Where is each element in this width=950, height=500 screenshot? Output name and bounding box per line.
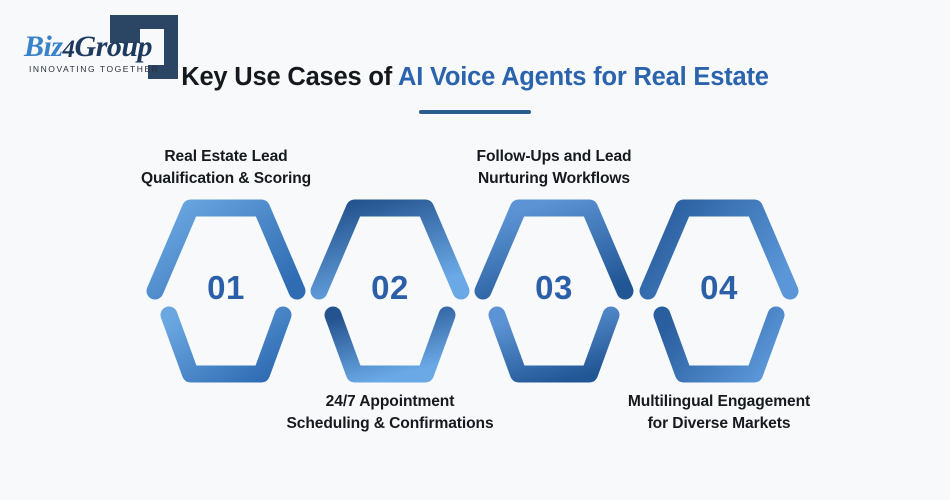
caption-step-3: Follow-Ups and Lead Nurturing Workflows: [429, 146, 679, 190]
caption-step-4: Multilingual Engagement for Diverse Mark…: [594, 391, 844, 435]
hexagon-stroke-upper: [319, 208, 461, 291]
page-title: Key Use Cases of AI Voice Agents for Rea…: [0, 63, 950, 92]
hexagon-stroke-lower: [497, 315, 611, 374]
caption-step-1: Real Estate Lead Qualification & Scoring: [101, 146, 351, 190]
hexagon-outline-1: [151, 203, 301, 379]
caption-step-2: 24/7 Appointment Scheduling & Confirmati…: [265, 391, 515, 435]
page-title-plain: Key Use Cases of: [181, 63, 398, 91]
hexagon-stroke-lower: [169, 315, 283, 374]
logo-text-four: 4: [63, 36, 75, 63]
hexagon-stroke-lower: [662, 315, 776, 374]
logo-text-group: Group: [75, 30, 153, 63]
hexagon-stroke-upper: [648, 208, 790, 291]
logo-text-biz: Biz: [24, 30, 63, 63]
hexagon-step-1[interactable]: 01: [151, 203, 301, 379]
hexagon-stroke-upper: [483, 208, 625, 291]
title-underline-rule: [419, 110, 531, 114]
hexagon-step-2[interactable]: 02: [315, 203, 465, 379]
hexagon-step-4[interactable]: 04: [644, 203, 794, 379]
hexagon-outline-3: [479, 203, 629, 379]
hexagon-outline-2: [315, 203, 465, 379]
hexagon-step-3[interactable]: 03: [479, 203, 629, 379]
hexagon-outline-4: [644, 203, 794, 379]
logo-wordmark: Biz4Group: [24, 30, 174, 64]
hexagon-stroke-upper: [155, 208, 297, 291]
hexagon-stroke-lower: [333, 315, 447, 374]
page-title-accent: AI Voice Agents for Real Estate: [398, 63, 769, 91]
